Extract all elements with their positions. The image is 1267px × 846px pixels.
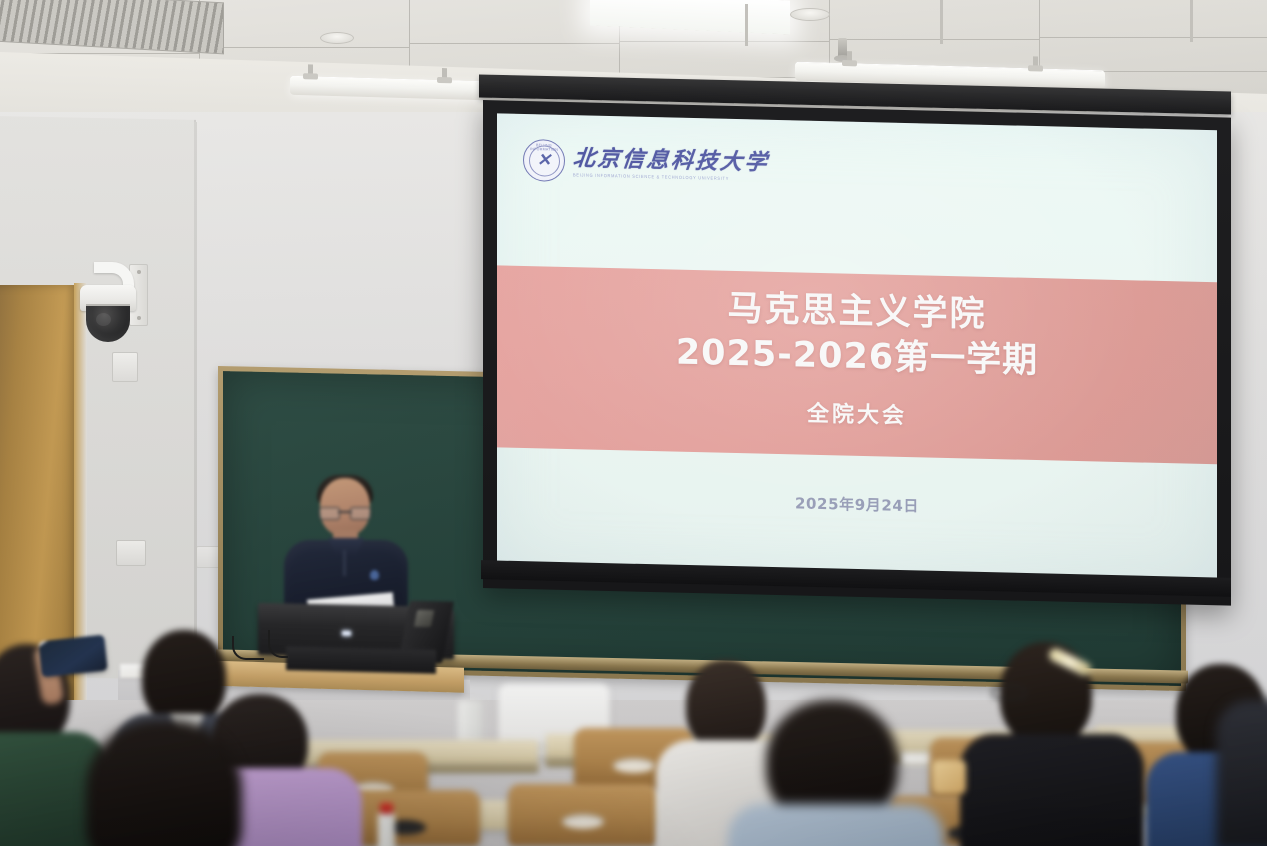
- sprinkler-head-icon: [838, 38, 847, 58]
- slide-title-line1: 马克思主义学院: [727, 287, 986, 337]
- attendee-right-edge: [1216, 700, 1267, 846]
- polo-logo-icon: [370, 570, 379, 580]
- slide-title-line2: 2025-2026第一学期: [676, 330, 1038, 385]
- attendee-light-blue: [744, 700, 926, 846]
- university-seal-icon: BEIJING INFORMATION ✕: [523, 139, 565, 182]
- water-bottle[interactable]: [378, 812, 395, 846]
- logo-text-chinese: 北京信息科技大学: [572, 146, 771, 176]
- smoke-detector-icon: [320, 32, 354, 44]
- eyeglasses-icon: [319, 507, 371, 518]
- classroom-chair[interactable]: [508, 784, 658, 846]
- lectern-console-base: [286, 646, 436, 674]
- slide-date: 2025年9月24日: [497, 485, 1217, 523]
- seal-monogram: ✕: [524, 149, 564, 172]
- eyeglasses-icon: [992, 686, 1026, 699]
- classroom-photo-scene: BEIJING INFORMATION ✕ 北京信息科技大学 BEIJING I…: [0, 0, 1267, 846]
- slide-meeting-label: 全院大会: [807, 401, 907, 431]
- snack-item: [932, 760, 966, 794]
- smartphone-recording[interactable]: [38, 635, 107, 678]
- ptz-dome-camera-icon: [78, 258, 148, 350]
- attendee-black-blazer: [966, 642, 1136, 846]
- smoke-detector-icon: [790, 8, 830, 21]
- university-logo: BEIJING INFORMATION ✕ 北京信息科技大学 BEIJING I…: [523, 139, 769, 187]
- water-dispenser: [458, 700, 482, 744]
- wall-seam: [194, 122, 197, 662]
- wall-socket-plate[interactable]: [116, 540, 146, 566]
- light-switch-plate[interactable]: [112, 352, 138, 382]
- attendee-foreground-left: [72, 720, 262, 846]
- presentation-slide: BEIJING INFORMATION ✕ 北京信息科技大学 BEIJING I…: [497, 113, 1217, 589]
- slide-title-band: 马克思主义学院 2025-2026第一学期 全院大会: [497, 265, 1217, 464]
- projection-screen: BEIJING INFORMATION ✕ 北京信息科技大学 BEIJING I…: [483, 100, 1231, 606]
